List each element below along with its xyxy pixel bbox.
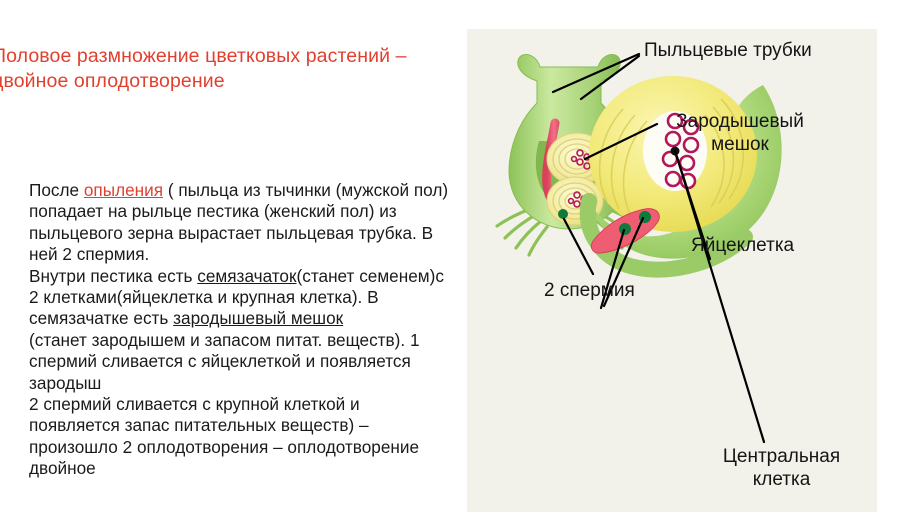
term-embryo-sac: зародышевый мешок (173, 308, 343, 328)
label-egg-cell: Яйцеклетка (691, 235, 794, 258)
paragraph-3: (станет зародышем и запасом питат. вещес… (29, 330, 449, 394)
slide-root: Половое размножение цветковых растений –… (0, 0, 910, 512)
link-pollination[interactable]: опыления (84, 180, 163, 200)
paragraph-2: Внутри пестика есть семязачаток(станет с… (29, 266, 449, 330)
term-ovule: семязачаток (197, 266, 296, 286)
paragraph-4: 2 спермий сливается с крупной клеткой и … (29, 394, 449, 480)
body-text-block: После опыления ( пыльца из тычинки (мужс… (29, 180, 449, 480)
sperm-entry-dot (558, 209, 568, 219)
label-embryo-sac: Зародышевый мешок (660, 111, 820, 156)
label-pollen-tubes: Пыльцевые трубки (644, 40, 812, 63)
paragraph-2-prefix: Внутри пестика есть (29, 266, 197, 286)
figure-panel: Пыльцевые трубки Зародышевый мешок Яйцек… (467, 29, 877, 512)
page-title: Половое размножение цветковых растений –… (0, 44, 444, 94)
diagram-artwork (467, 29, 877, 512)
sperm-dot-2 (619, 223, 631, 235)
label-central-cell: Центральная клетка (704, 446, 859, 491)
paragraph-1: После опыления ( пыльца из тычинки (мужс… (29, 180, 449, 266)
paragraph-1-prefix: После (29, 180, 84, 200)
label-two-sperm: 2 спермия (544, 280, 635, 303)
